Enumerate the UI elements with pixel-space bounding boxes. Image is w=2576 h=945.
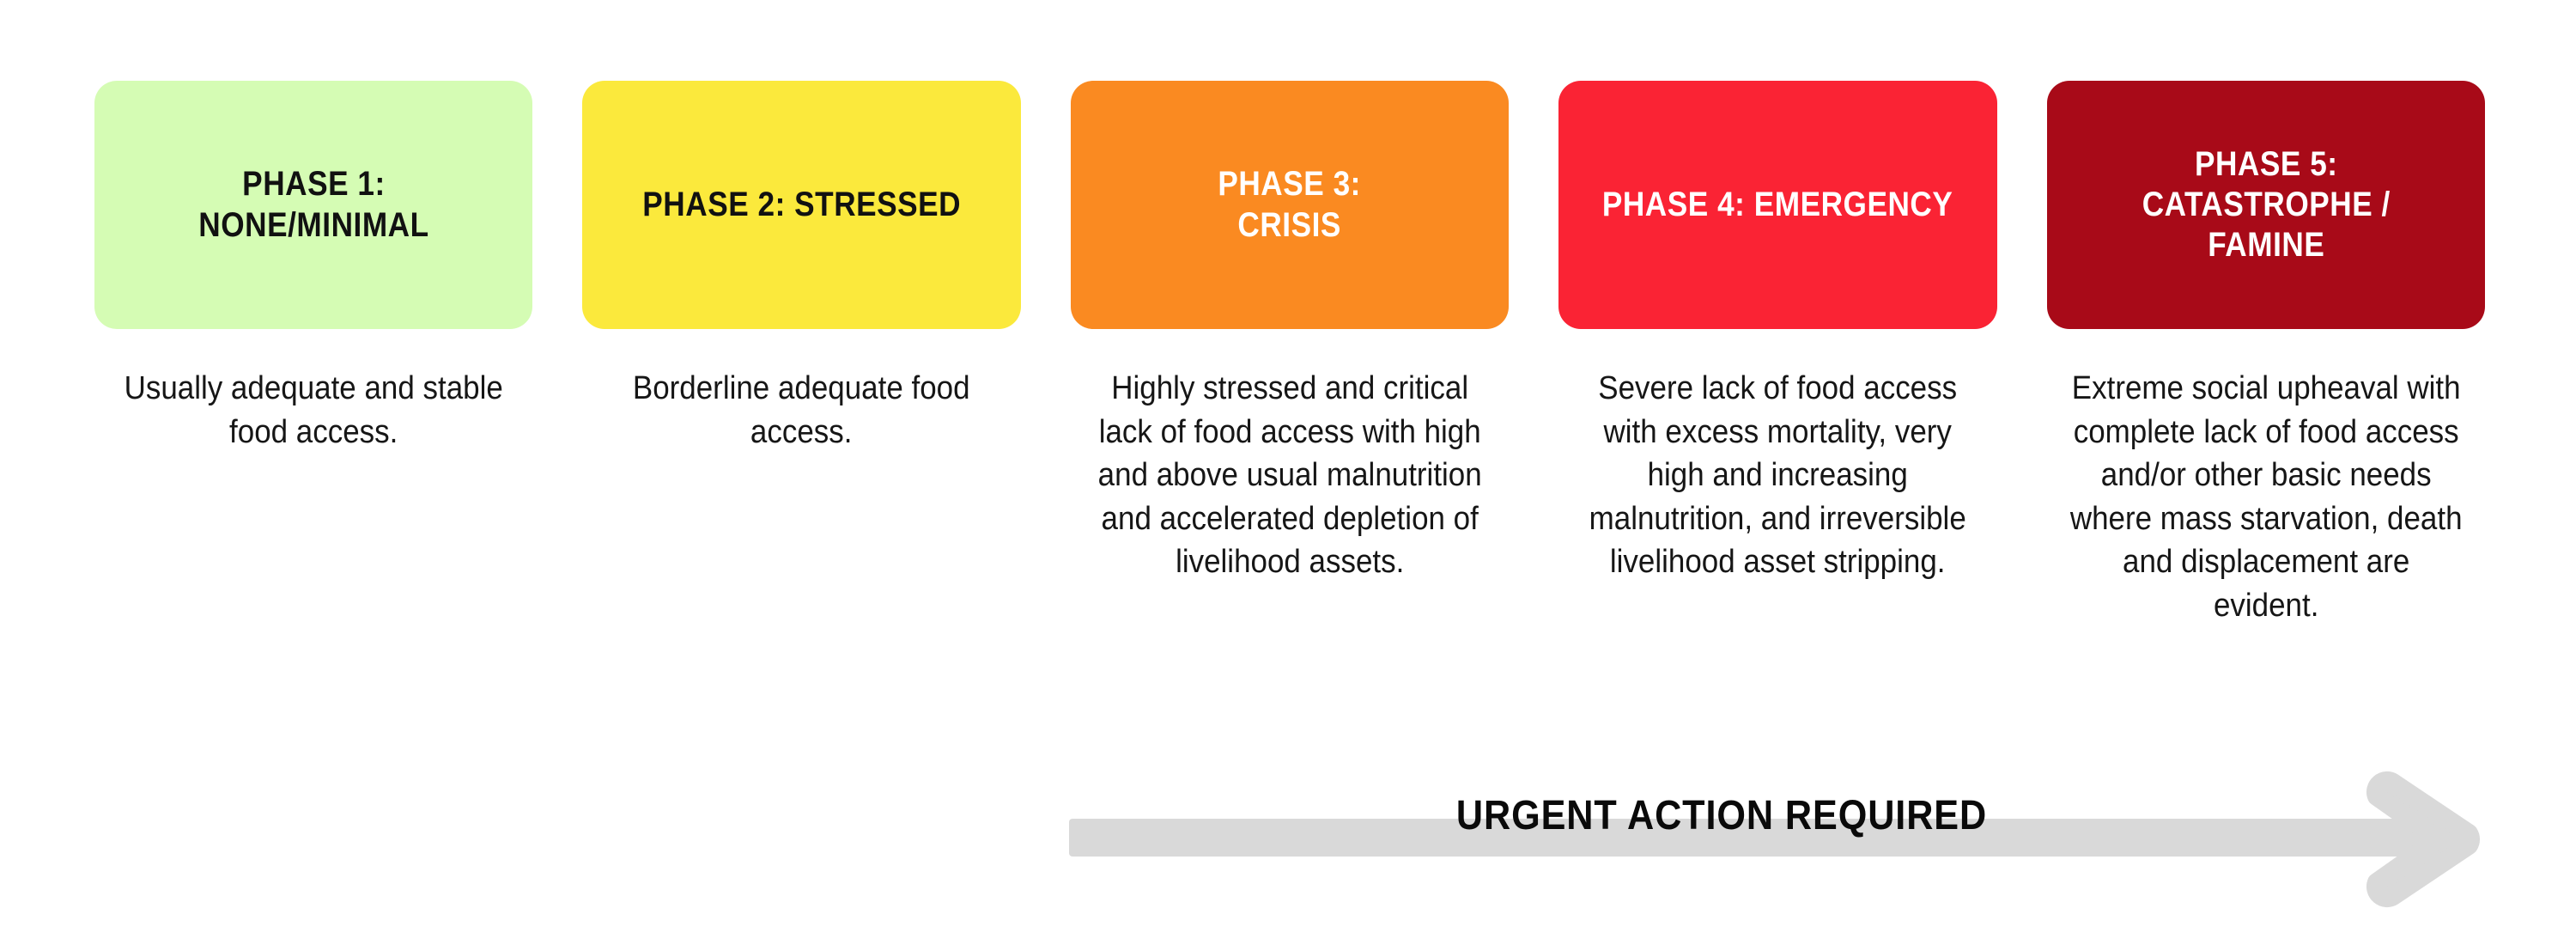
phase-column-1: PHASE 1: NONE/MINIMAL Usually adequate a… (94, 81, 532, 454)
ipc-phase-grid: PHASE 1: NONE/MINIMAL Usually adequate a… (94, 81, 2485, 627)
phase-box-3[interactable]: PHASE 3: CRISIS (1071, 81, 1509, 329)
phase-description-4: Severe lack of food access with excess m… (1577, 367, 1980, 584)
urgent-action-label: URGENT ACTION REQUIRED (1134, 792, 2309, 839)
phase-title-5: PHASE 5: CATASTROPHE / FAMINE (2142, 144, 2390, 266)
phase-title-1: PHASE 1: NONE/MINIMAL (198, 164, 428, 245)
phase-box-4[interactable]: PHASE 4: EMERGENCY (1558, 81, 1996, 329)
phase-column-2: PHASE 2: STRESSED Borderline adequate fo… (582, 81, 1020, 454)
phase-description-3: Highly stressed and critical lack of foo… (1088, 367, 1492, 584)
phase-column-5: PHASE 5: CATASTROPHE / FAMINE Extreme so… (2047, 81, 2485, 627)
arrow-right-icon (2348, 771, 2486, 908)
phase-description-2: Borderline adequate food access. (600, 367, 1004, 454)
phase-title-2: PHASE 2: STRESSED (642, 185, 961, 225)
phase-column-4: PHASE 4: EMERGENCY Severe lack of food a… (1558, 81, 1996, 584)
phase-box-5[interactable]: PHASE 5: CATASTROPHE / FAMINE (2047, 81, 2485, 329)
phase-description-1: Usually adequate and stable food access. (112, 367, 515, 454)
phase-box-1[interactable]: PHASE 1: NONE/MINIMAL (94, 81, 532, 329)
phase-column-3: PHASE 3: CRISIS Highly stressed and crit… (1071, 81, 1509, 584)
phase-box-2[interactable]: PHASE 2: STRESSED (582, 81, 1020, 329)
infographic-canvas: PHASE 1: NONE/MINIMAL Usually adequate a… (0, 0, 2576, 945)
phase-description-5: Extreme social upheaval with complete la… (2064, 367, 2468, 627)
phase-title-3: PHASE 3: CRISIS (1218, 164, 1362, 245)
urgent-action-banner: URGENT ACTION REQUIRED (1069, 799, 2512, 885)
phase-title-4: PHASE 4: EMERGENCY (1602, 185, 1953, 225)
